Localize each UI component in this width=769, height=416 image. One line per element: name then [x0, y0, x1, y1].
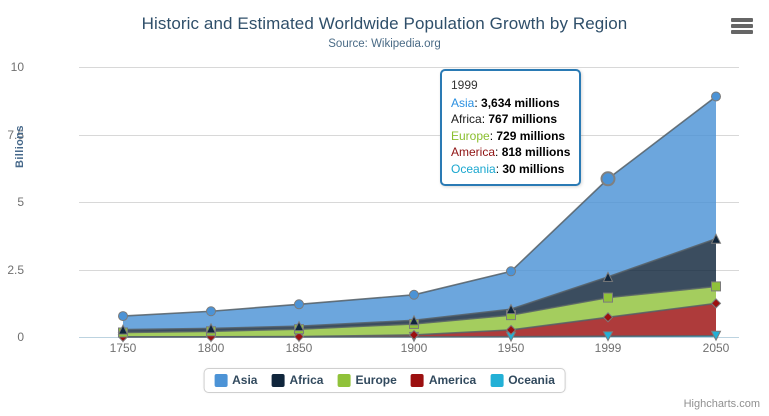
legend-label-america: America: [429, 373, 476, 387]
tooltip-sep-asia: :: [474, 96, 481, 110]
legend-item-africa[interactable]: Africa: [271, 373, 323, 387]
legend-item-asia[interactable]: Asia: [214, 373, 257, 387]
tooltip-value-europe: 729 millions: [496, 129, 565, 143]
legend: Asia Africa Europe America Oceania: [203, 368, 566, 393]
tooltip-value-africa: 767 millions: [488, 112, 557, 126]
legend-swatch-america: [411, 374, 424, 387]
highcharts-chart: Historic and Estimated Worldwide Populat…: [0, 0, 769, 416]
marker-asia-1850[interactable]: [295, 300, 304, 309]
tooltip-row-europe: Europe: 729 millions: [451, 128, 570, 145]
legend-item-america[interactable]: America: [411, 373, 476, 387]
marker-asia-1750[interactable]: [119, 312, 128, 321]
tooltip-row-asia: Asia: 3,634 millions: [451, 95, 570, 112]
tooltip-key-asia: Asia: [451, 96, 474, 110]
legend-label-europe: Europe: [355, 373, 396, 387]
tooltip-key-oceania: Oceania: [451, 162, 496, 176]
marker-asia-1900[interactable]: [410, 290, 419, 299]
tooltip-row-africa: Africa: 767 millions: [451, 111, 570, 128]
tooltip: 1999 Asia: 3,634 millions Africa: 767 mi…: [440, 69, 581, 186]
legend-label-oceania: Oceania: [508, 373, 555, 387]
marker-asia-2050[interactable]: [712, 92, 721, 101]
legend-item-europe[interactable]: Europe: [337, 373, 396, 387]
tooltip-value-america: 818 millions: [502, 145, 571, 159]
marker-asia-1800[interactable]: [207, 307, 216, 316]
legend-item-oceania[interactable]: Oceania: [490, 373, 555, 387]
legend-swatch-oceania: [490, 374, 503, 387]
legend-swatch-africa: [271, 374, 284, 387]
tooltip-row-oceania: Oceania: 30 millions: [451, 161, 570, 178]
tooltip-header: 1999: [451, 77, 570, 95]
tooltip-key-africa: Africa: [451, 112, 482, 126]
marker-asia-1950[interactable]: [507, 267, 516, 276]
marker-asia-1999[interactable]: [602, 172, 615, 185]
marker-europe-1999[interactable]: [604, 293, 613, 302]
tooltip-value-asia: 3,634 millions: [481, 96, 560, 110]
legend-label-africa: Africa: [289, 373, 323, 387]
series-svg: [0, 0, 769, 416]
tooltip-sep-america: :: [495, 145, 502, 159]
legend-swatch-asia: [214, 374, 227, 387]
legend-swatch-europe: [337, 374, 350, 387]
legend-label-asia: Asia: [232, 373, 257, 387]
tooltip-value-oceania: 30 millions: [502, 162, 564, 176]
tooltip-key-america: America: [451, 145, 495, 159]
tooltip-key-europe: Europe: [451, 129, 490, 143]
credits-link[interactable]: Highcharts.com: [684, 398, 760, 410]
marker-europe-2050[interactable]: [712, 282, 721, 291]
tooltip-row-america: America: 818 millions: [451, 144, 570, 161]
